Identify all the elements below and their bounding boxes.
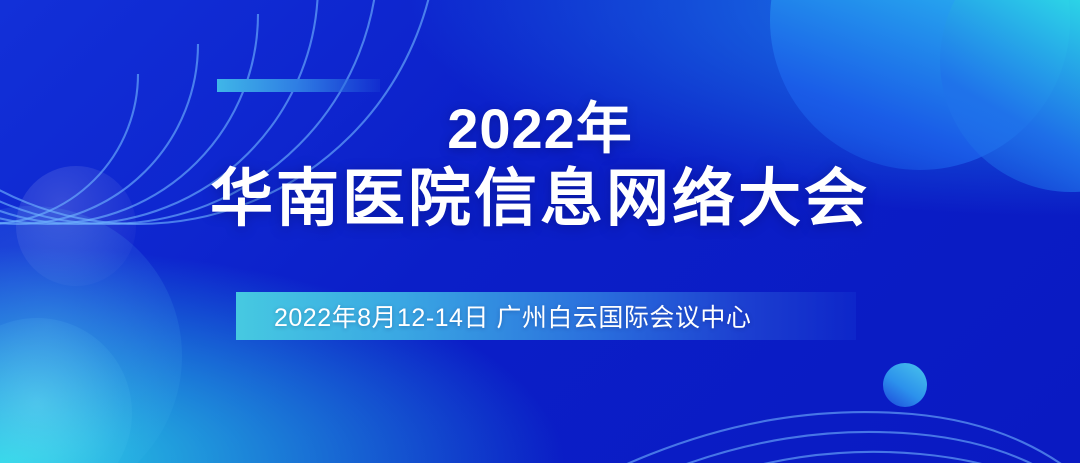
- cyan-gradient-circle-bottom-right: [883, 363, 927, 407]
- headline-block: 2022年 华南医院信息网络大会: [0, 100, 1080, 235]
- accent-bar: [217, 79, 380, 92]
- page-title: 华南医院信息网络大会: [0, 164, 1080, 235]
- subtitle-bar: 2022年8月12-14日 广州白云国际会议中心: [236, 292, 856, 340]
- year-text: 2022年: [0, 100, 1080, 158]
- subtitle-text: 2022年8月12-14日 广州白云国际会议中心: [274, 298, 751, 334]
- conference-banner: 2022年 华南医院信息网络大会 2022年8月12-14日 广州白云国际会议中…: [0, 0, 1080, 463]
